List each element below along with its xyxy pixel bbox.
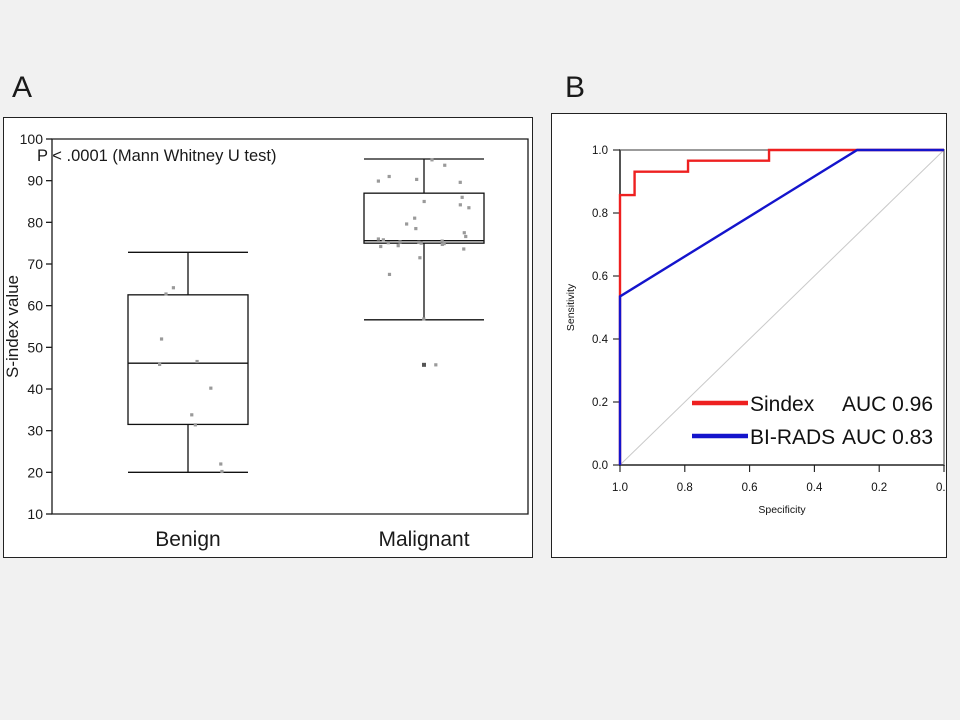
data-point [382, 238, 385, 241]
roc-y-tick-label: 0.6 [592, 271, 608, 283]
data-point [194, 423, 197, 426]
roc-legend-item-sindex: SindexAUC 0.96 [692, 393, 933, 416]
outlier-point [422, 363, 426, 367]
data-point [405, 222, 408, 225]
y-tick-label: 100 [20, 131, 44, 147]
roc-x-tick-label: 0.2 [871, 482, 887, 494]
data-point [164, 292, 167, 295]
data-point [398, 240, 401, 243]
data-point [413, 217, 416, 220]
data-point [209, 387, 212, 390]
data-point [461, 196, 464, 199]
y-tick-label: 20 [27, 464, 43, 480]
y-tick-label: 30 [27, 423, 43, 439]
data-point [463, 231, 466, 234]
roc-y-axis-title: Sensitivity [565, 283, 577, 331]
y-tick-label: 40 [27, 381, 43, 397]
panel-a-boxplot-figure: 102030405060708090100S-index valueP < .0… [3, 117, 533, 558]
data-point [459, 181, 462, 184]
data-point [172, 286, 175, 289]
legend-auc-label: AUC 0.83 [842, 426, 933, 449]
data-point [418, 256, 421, 259]
data-point [464, 235, 467, 238]
data-point [423, 200, 426, 203]
data-point [459, 203, 462, 206]
legend-series-label: BI-RADS [750, 426, 835, 449]
data-point [434, 363, 437, 366]
y-tick-label: 80 [27, 214, 43, 230]
data-point [415, 178, 418, 181]
boxplot-benign [128, 252, 248, 473]
y-axis-title: S-index value [4, 275, 22, 378]
boxplot-svg: 102030405060708090100S-index valueP < .0… [4, 118, 531, 556]
roc-y-tick-label: 0.4 [592, 334, 609, 346]
roc-x-tick-label: 0.8 [677, 482, 693, 494]
panel-a-letter: A [12, 73, 32, 103]
data-point [420, 242, 423, 245]
panel-b-letter: B [565, 73, 585, 103]
data-point [430, 158, 433, 161]
data-point [190, 413, 193, 416]
y-tick-label: 60 [27, 298, 43, 314]
data-point [462, 247, 465, 250]
legend-auc-label: AUC 0.96 [842, 393, 933, 416]
roc-svg: 0.00.20.40.60.81.01.00.80.60.40.20.0Spec… [552, 114, 945, 556]
data-point [443, 164, 446, 167]
data-point [158, 363, 161, 366]
data-point [387, 241, 390, 244]
data-point [220, 470, 223, 473]
roc-x-tick-label: 0.6 [742, 482, 758, 494]
data-point [388, 175, 391, 178]
data-point [377, 237, 380, 240]
roc-x-tick-label: 0.4 [806, 482, 823, 494]
roc-legend-item-bi-rads: BI-RADSAUC 0.83 [692, 426, 933, 449]
data-point [160, 337, 163, 340]
roc-x-axis-title: Specificity [758, 504, 806, 516]
roc-x-tick-label: 1.0 [612, 482, 628, 494]
data-point [397, 244, 400, 247]
boxplot-malignant [364, 158, 484, 367]
roc-y-tick-label: 0.8 [592, 208, 608, 220]
data-point [377, 179, 380, 182]
data-point [219, 462, 222, 465]
box-iqr [128, 295, 248, 425]
roc-y-tick-label: 0.0 [592, 460, 608, 472]
y-tick-label: 70 [27, 256, 43, 272]
category-label-malignant: Malignant [378, 528, 469, 551]
roc-y-tick-label: 0.2 [592, 397, 608, 409]
p-value-annotation: P < .0001 (Mann Whitney U test) [37, 147, 277, 165]
category-label-benign: Benign [155, 528, 220, 551]
y-tick-label: 50 [27, 339, 43, 355]
data-point [467, 206, 470, 209]
data-point [388, 273, 391, 276]
data-point [441, 243, 444, 246]
plot-frame [52, 139, 528, 514]
data-point [422, 317, 425, 320]
y-tick-label: 10 [27, 506, 43, 522]
y-tick-label: 90 [27, 173, 43, 189]
data-point [414, 227, 417, 230]
figure-canvas: A B 102030405060708090100S-index valueP … [0, 0, 960, 720]
panel-b-roc-figure: 0.00.20.40.60.81.01.00.80.60.40.20.0Spec… [551, 113, 947, 558]
roc-y-tick-label: 1.0 [592, 145, 608, 157]
data-point [379, 245, 382, 248]
legend-series-label: Sindex [750, 393, 815, 416]
roc-x-tick-label: 0.0 [936, 482, 945, 494]
data-point [195, 360, 198, 363]
